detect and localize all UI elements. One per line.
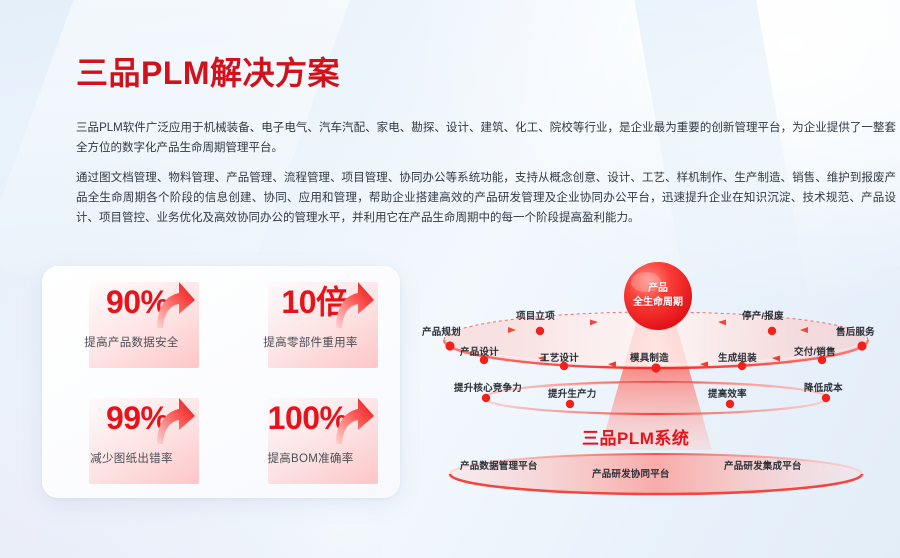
up-arrow-icon	[332, 274, 378, 330]
lifecycle-label-assembly: 生成组装	[718, 350, 757, 364]
stat-label: 提高产品数据安全	[57, 334, 207, 350]
stat-item: 90% 提高产品数据安全	[42, 266, 221, 382]
up-arrow-icon	[332, 390, 378, 446]
stat-item: 99% 减少图纸出错率	[42, 382, 221, 498]
lifecycle-label-project-initiation: 项目立项	[516, 308, 555, 322]
lifecycle-label-process-design: 工艺设计	[540, 350, 579, 364]
benefit-label-cost-reduction: 降低成本	[804, 380, 843, 394]
up-arrow-icon	[153, 390, 199, 446]
stat-item: 100% 提高BOM准确率	[221, 382, 400, 498]
page-title: 三品PLM解决方案	[76, 48, 340, 94]
lifecycle-label-after-sales: 售后服务	[836, 324, 875, 338]
benefit-label-efficiency: 提高效率	[708, 386, 747, 400]
platform-label-data-management: 产品数据管理平台	[460, 458, 538, 472]
lifecycle-label-product-planning: 产品规划	[422, 324, 461, 338]
lifecycle-label-discontinue-scrap: 停产/报废	[742, 308, 784, 322]
benefit-label-productivity: 提升生产力	[548, 386, 597, 400]
stat-label: 减少图纸出错率	[57, 450, 207, 466]
lifecycle-diagram: 产品 全生命周期 产品规划 项目立项 停产/报废 售后服务 产品设计 工艺设计 …	[412, 252, 900, 510]
page-root: 三品PLM解决方案 三品PLM软件广泛应用于机械装备、电子电气、汽车汽配、家电、…	[0, 0, 900, 558]
lifecycle-label-mold-manufacture: 模具制造	[630, 350, 669, 364]
platform-label-rnd-collaboration: 产品研发协同平台	[592, 466, 670, 480]
lifecycle-label-product-design: 产品设计	[460, 344, 499, 358]
system-title: 三品PLM系统	[582, 424, 689, 449]
intro-paragraph-2: 通过图文档管理、物料管理、产品管理、流程管理、项目管理、协同办公等系统功能，支持…	[76, 168, 896, 228]
stats-card: 90% 提高产品数据安全 10倍	[42, 266, 400, 498]
platform-label-rnd-integration: 产品研发集成平台	[724, 458, 802, 472]
intro-paragraph-1: 三品PLM软件广泛应用于机械装备、电子电气、汽车汽配、家电、勘探、设计、建筑、化…	[76, 118, 896, 158]
sphere-label-line1: 产品	[620, 282, 696, 295]
stats-grid: 90% 提高产品数据安全 10倍	[42, 266, 400, 498]
stat-label: 提高BOM准确率	[236, 450, 386, 466]
stat-label: 提高零部件重用率	[236, 334, 386, 350]
lifecycle-label-delivery-sales: 交付/销售	[794, 344, 836, 358]
stat-item: 10倍 提高零部件重用率	[221, 266, 400, 382]
benefit-label-core-competitiveness: 提升核心竞争力	[454, 380, 522, 394]
up-arrow-icon	[153, 274, 199, 330]
sphere-label-line2: 全生命周期	[620, 296, 696, 309]
